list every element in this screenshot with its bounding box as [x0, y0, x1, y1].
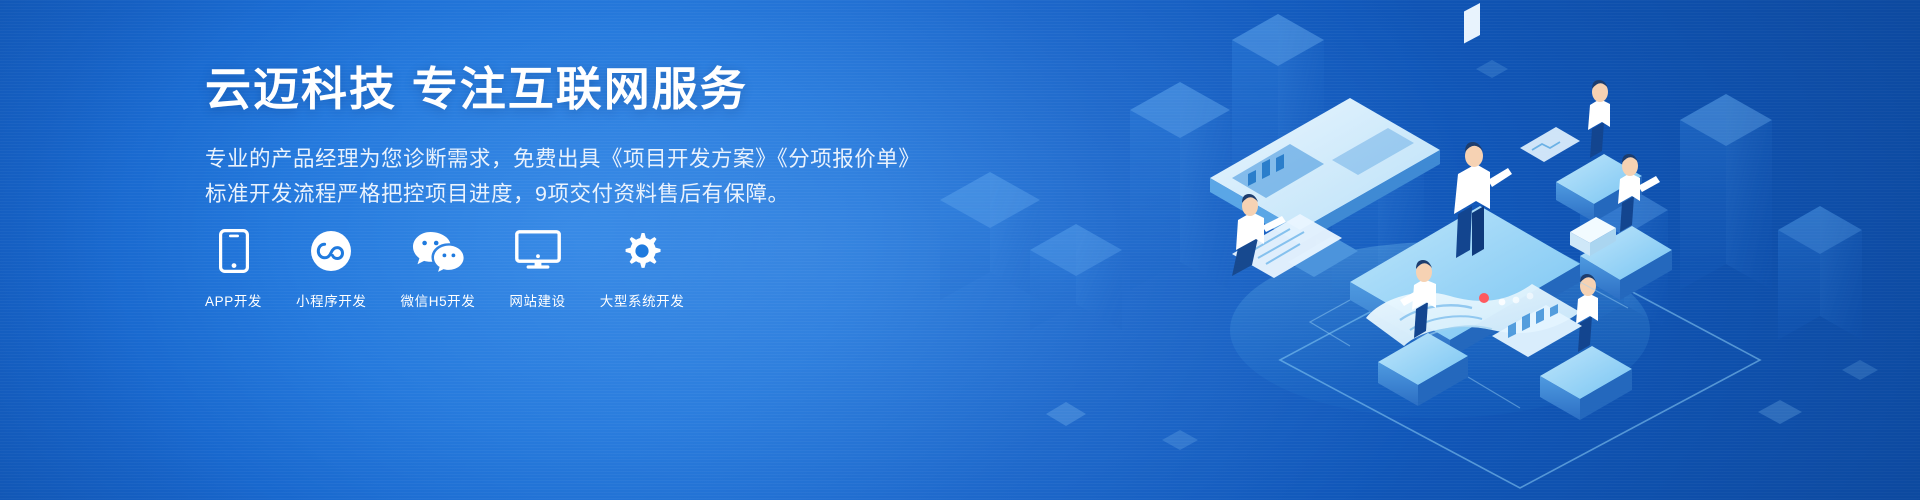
service-label-app: APP开发 — [205, 290, 262, 310]
page-title: 云迈科技 专注互联网服务 — [205, 62, 965, 116]
mobile-phone-icon — [219, 228, 249, 274]
wechat-icon — [412, 228, 464, 274]
service-item-miniprogram[interactable]: 小程序开发 — [296, 228, 367, 310]
service-item-app[interactable]: APP开发 — [205, 228, 262, 310]
hero-banner: 云迈科技 专注互联网服务 专业的产品经理为您诊断需求，免费出具《项目开发方案》《… — [0, 0, 1920, 500]
service-item-website[interactable]: 网站建设 — [509, 228, 565, 310]
service-label-wechat-h5: 微信H5开发 — [401, 290, 476, 310]
banner-copy: 云迈科技 专注互联网服务 专业的产品经理为您诊断需求，免费出具《项目开发方案》《… — [205, 62, 965, 212]
service-list: APP开发 小程序开发 — [205, 228, 684, 310]
floating-mini-screen — [1520, 127, 1580, 162]
mini-program-icon — [310, 228, 352, 274]
service-label-website: 网站建设 — [509, 290, 565, 310]
character-upper-right — [1588, 80, 1610, 158]
gear-icon — [620, 228, 664, 274]
service-item-wechat-h5[interactable]: 微信H5开发 — [401, 228, 476, 310]
monitor-icon — [515, 228, 561, 274]
banner-subtitle-line-1: 专业的产品经理为您诊断需求，免费出具《项目开发方案》《分项报价单》 — [205, 142, 965, 177]
service-label-miniprogram: 小程序开发 — [296, 290, 367, 310]
banner-subtitle-line-2: 标准开发流程严格把控项目进度，9项交付资料售后有保障。 — [205, 177, 965, 212]
service-label-large-system: 大型系统开发 — [600, 290, 685, 310]
service-item-large-system[interactable]: 大型系统开发 — [600, 228, 685, 310]
isometric-illustration — [880, 0, 1920, 500]
